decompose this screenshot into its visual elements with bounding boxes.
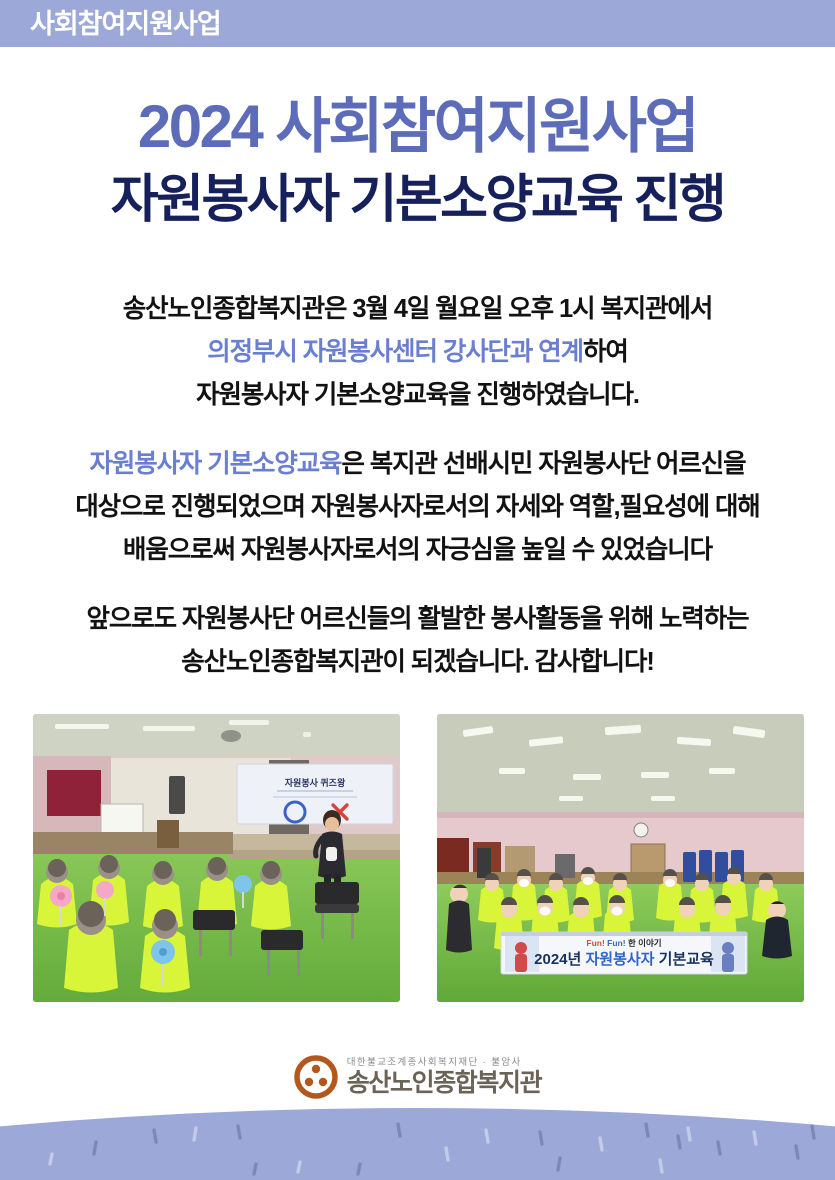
- paragraph-2-highlight: 자원봉사자 기본소양교육: [89, 450, 341, 478]
- paragraph-3: 앞으로도 자원봉사단 어르신들의 활발한 봉사활동을 위해 노력하는 송산노인종…: [0, 598, 835, 684]
- event-banner: Fun! Fun! 한 이야기 2024년 자원봉사자 기본교육: [501, 932, 747, 974]
- paragraph-1-line-2-rest: 하여: [583, 338, 628, 366]
- paragraph-2-line-2: 대상으로 진행되었으며 자원봉사자로서의 자세와 역할,필요성에 대해: [0, 486, 835, 529]
- photo-lecture-session: 자원봉사 퀴즈왕: [33, 714, 400, 1002]
- photo-group-graphic: Fun! Fun! 한 이야기 2024년 자원봉사자 기본교육: [437, 714, 804, 1002]
- page-title-primary: 2024 사회참여지원사업: [0, 92, 835, 162]
- paragraph-3-line-2: 송산노인종합복지관이 되겠습니다. 감사합니다!: [0, 641, 835, 684]
- paragraph-1-line-2: 의정부시 자원봉사센터 강사단과 연계하여: [0, 331, 835, 374]
- title-block: 2024 사회참여지원사업 자원봉사자 기본소양교육 진행: [0, 92, 835, 232]
- body-text-block: 송산노인종합복지관은 3월 4일 월요일 오후 1시 복지관에서 의정부시 자원…: [0, 288, 835, 684]
- header-band-label: 사회참여지원사업: [30, 5, 221, 43]
- paragraph-2-line-1: 자원봉사자 기본소양교육은 복지관 선배시민 자원봉사단 어르신을: [0, 443, 835, 486]
- paragraph-2-line-1-rest: 은 복지관 선배시민 자원봉사단 어르신을: [341, 450, 745, 478]
- svg-text:자원봉사 퀴즈왕: 자원봉사 퀴즈왕: [285, 777, 346, 788]
- paragraph-3-line-1: 앞으로도 자원봉사단 어르신들의 활발한 봉사활동을 위해 노력하는: [0, 598, 835, 641]
- svg-text:Fun! Fun! 한 이야기: Fun! Fun! 한 이야기: [586, 938, 661, 948]
- page-title-secondary: 자원봉사자 기본소양교육 진행: [0, 168, 835, 232]
- paragraph-1-highlight: 의정부시 자원봉사센터 강사단과 연계: [207, 338, 583, 366]
- footer-logo: 대한불교조계종사회복지재단 · 불암사 송산노인종합복지관: [0, 1055, 835, 1099]
- paragraph-2-line-3: 배움으로써 자원봉사자로서의 자긍심을 높일 수 있었습니다: [0, 529, 835, 572]
- paragraph-2: 자원봉사자 기본소양교육은 복지관 선배시민 자원봉사단 어르신을 대상으로 진…: [0, 443, 835, 572]
- footer-logo-text: 대한불교조계종사회복지재단 · 불암사 송산노인종합복지관: [347, 1057, 541, 1097]
- paragraph-1-line-1: 송산노인종합복지관은 3월 4일 월요일 오후 1시 복지관에서: [0, 288, 835, 331]
- footer-logo-subtitle: 대한불교조계종사회복지재단 · 불암사: [347, 1057, 541, 1069]
- songsan-three-dot-emblem-icon: [294, 1055, 338, 1099]
- bottom-decorative-arc: [0, 1102, 835, 1180]
- paragraph-1-line-3: 자원봉사자 기본소양교육을 진행하였습니다.: [0, 374, 835, 417]
- photo-lecture-graphic: 자원봉사 퀴즈왕: [33, 714, 400, 1002]
- svg-text:2024년 자원봉사자 기본교육: 2024년 자원봉사자 기본교육: [534, 951, 714, 968]
- bottom-arc-graphic: [0, 1102, 835, 1180]
- photo-group-photo: Fun! Fun! 한 이야기 2024년 자원봉사자 기본교육: [437, 714, 804, 1002]
- footer-organization-name: 송산노인종합복지관: [347, 1069, 541, 1097]
- header-band: 사회참여지원사업: [0, 0, 835, 47]
- poster-page: 사회참여지원사업 2024 사회참여지원사업 자원봉사자 기본소양교육 진행 송…: [0, 0, 835, 1180]
- paragraph-1: 송산노인종합복지관은 3월 4일 월요일 오후 1시 복지관에서 의정부시 자원…: [0, 288, 835, 417]
